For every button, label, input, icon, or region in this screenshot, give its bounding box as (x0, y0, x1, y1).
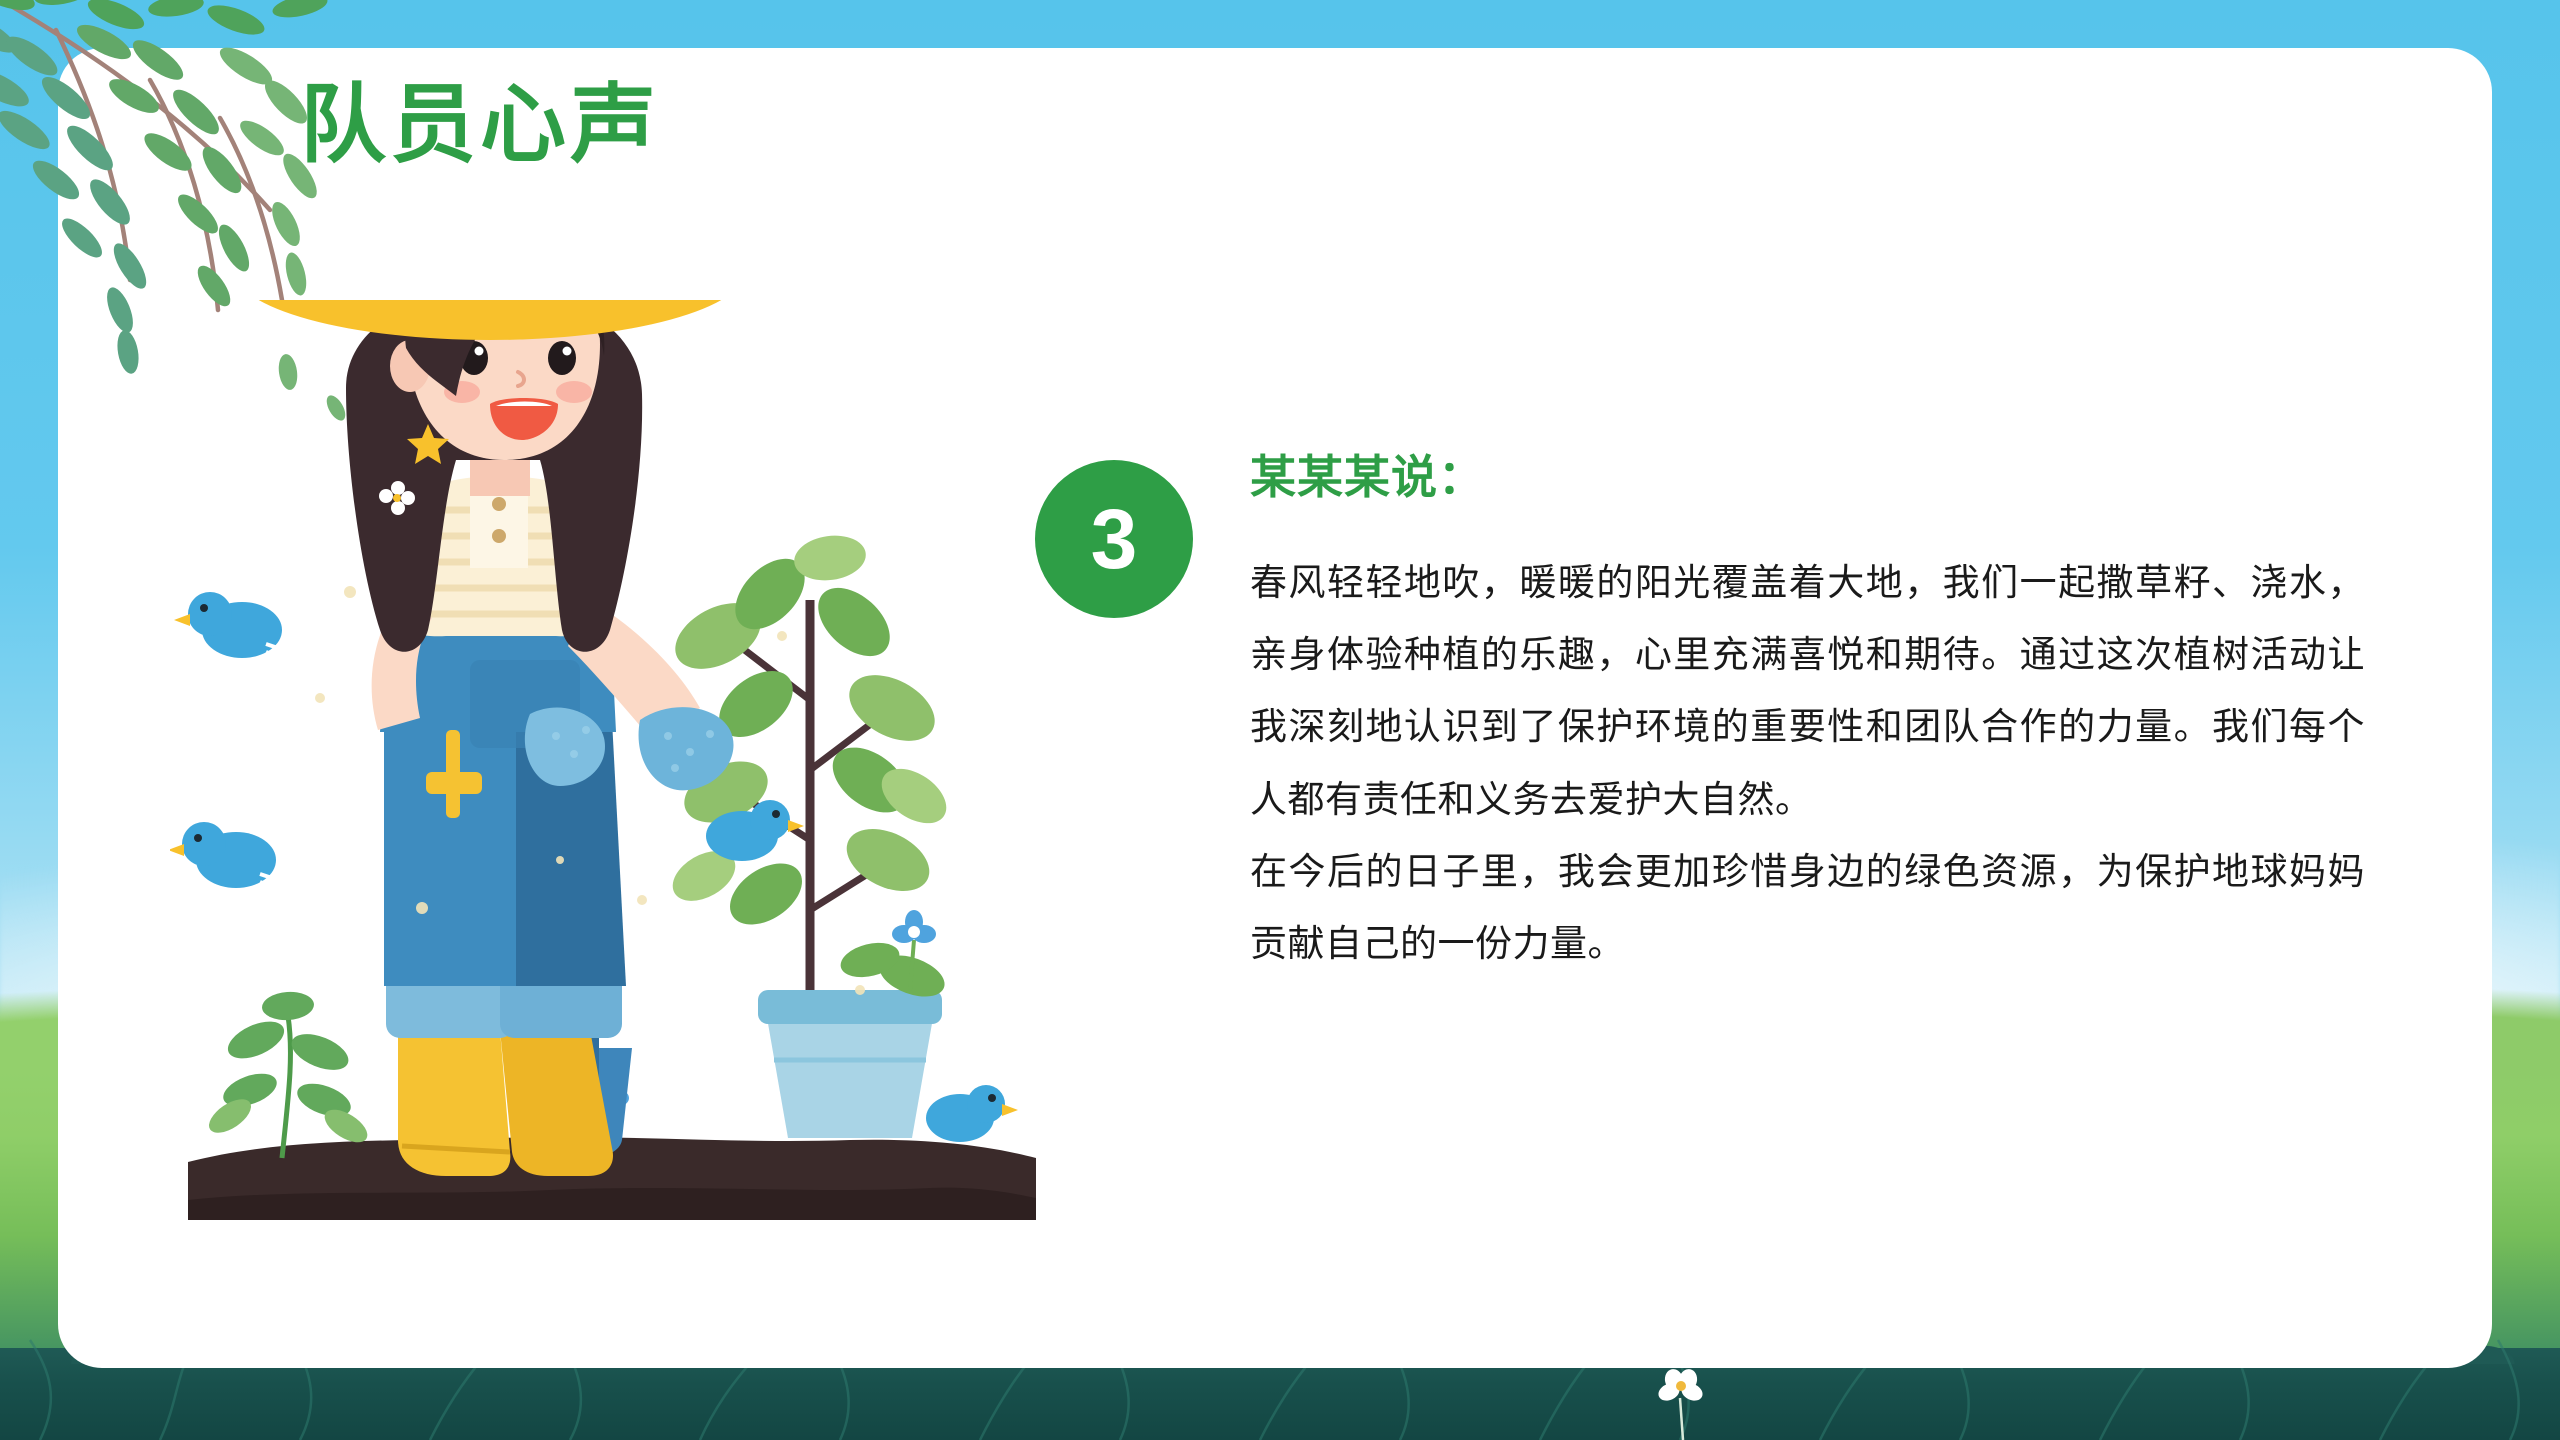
bird-left-upper (174, 592, 290, 662)
left-plant (203, 990, 372, 1158)
testimonial-paragraph-1: 春风轻轻地吹，暖暖的阳光覆盖着大地，我们一起撒草籽、浇水，亲身体验种植的乐趣，心… (1250, 547, 2365, 836)
testimonial-paragraph-2: 在今后的日子里，我会更加珍惜身边的绿色资源，为保护地球妈妈贡献自己的一份力量。 (1250, 836, 2365, 980)
straw-hat (234, 300, 746, 340)
slide-root: 队员心声 3 某某某说： 春风轻轻地吹，暖暖的阳光覆盖着大地，我们一起撒草籽、浇… (0, 0, 2560, 1440)
speaker-name: 某某某说： (1250, 450, 2365, 505)
gloves (525, 707, 734, 790)
step-number-label: 3 (1091, 497, 1138, 581)
plant-pot (758, 910, 950, 1138)
girl-planting-tree-illustration (170, 300, 1050, 1240)
bird-bottom-right (926, 1085, 1018, 1142)
page-title: 队员心声 (300, 78, 660, 173)
bird-left-lower (170, 822, 284, 892)
testimonial-text-column: 某某某说： 春风轻轻地吹，暖暖的阳光覆盖着大地，我们一起撒草籽、浇水，亲身体验种… (1250, 450, 2365, 980)
left-boot (398, 1030, 510, 1176)
step-number-badge: 3 (1035, 460, 1193, 618)
